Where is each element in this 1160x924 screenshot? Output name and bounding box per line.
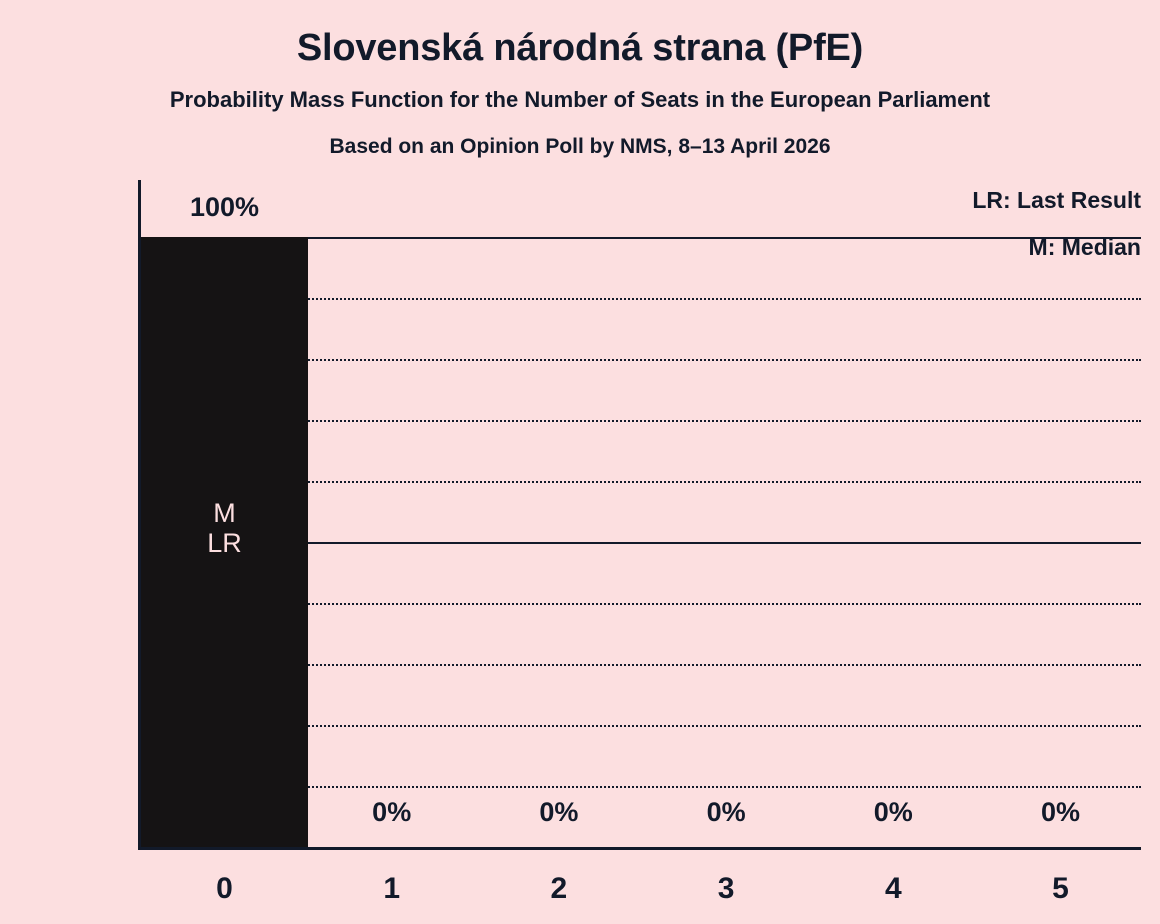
x-tick-2: 2 [475, 874, 642, 904]
x-tick-4: 4 [810, 874, 977, 904]
copyright-notice: © 2026 Filip van Laenen [1151, 0, 1160, 8]
x-axis-spine [138, 847, 1141, 850]
page-title: Slovenská národná strana (PfE) [0, 0, 1160, 67]
chart-plot-area: MLR [138, 180, 1141, 850]
x-tick-5: 5 [977, 874, 1144, 904]
y-axis-spine [138, 180, 141, 847]
bar-marker-labels: MLR [141, 498, 308, 558]
value-label-seats-1: 0% [308, 799, 475, 826]
chart-subtitle: Probability Mass Function for the Number… [0, 67, 1160, 111]
value-label-seats-3: 0% [643, 799, 810, 826]
chart-source-line: Based on an Opinion Poll by NMS, 8–13 Ap… [0, 111, 1160, 157]
marker-lr: LR [141, 528, 308, 558]
x-tick-0: 0 [141, 874, 308, 904]
bar-seats-0[interactable]: MLR [141, 237, 308, 847]
value-label-seats-5: 0% [977, 799, 1144, 826]
value-label-seats-4: 0% [810, 799, 977, 826]
x-tick-1: 1 [308, 874, 475, 904]
value-label-seats-0: 100% [141, 194, 308, 221]
x-tick-3: 3 [643, 874, 810, 904]
title-block: Slovenská národná strana (PfE) Probabili… [0, 0, 1160, 157]
value-label-seats-2: 0% [475, 799, 642, 826]
marker-m: M [141, 498, 308, 528]
